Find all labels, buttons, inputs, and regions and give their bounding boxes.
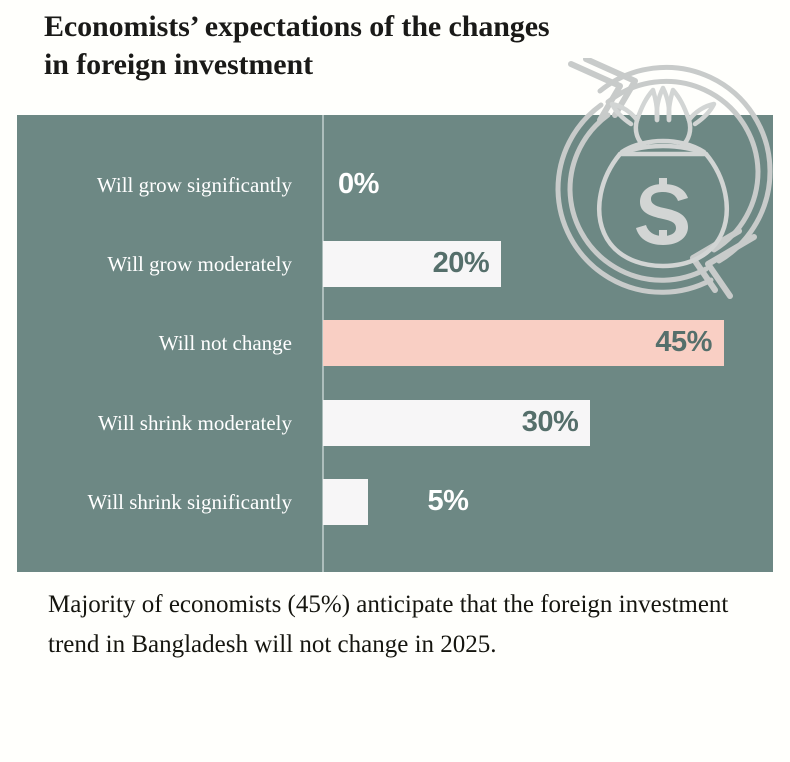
bar-value-label: 0% xyxy=(338,162,379,208)
bar-value-label: 20% xyxy=(323,241,501,287)
chart-caption: Majority of economists (45%) anticipate … xyxy=(48,585,738,665)
bar-category-label: Will grow significantly xyxy=(17,162,292,208)
chart-panel: Will grow significantly0%Will grow moder… xyxy=(17,115,773,572)
page-title: Economists’ expectations of the changes … xyxy=(44,8,734,84)
bar-row: Will not change45% xyxy=(17,320,773,366)
bar-category-label: Will shrink moderately xyxy=(17,400,292,446)
bar-row: Will shrink moderately30% xyxy=(17,400,773,446)
bar-category-label: Will not change xyxy=(17,320,292,366)
bar-value-label: 30% xyxy=(323,400,590,446)
infographic: Economists’ expectations of the changes … xyxy=(0,0,790,762)
bar-category-label: Will shrink significantly xyxy=(17,479,292,525)
bar-value-label: 45% xyxy=(323,320,724,366)
bar-row: Will grow significantly0% xyxy=(17,162,773,208)
bar-value-label: 5% xyxy=(428,479,469,525)
bar-category-label: Will grow moderately xyxy=(17,241,292,287)
bar-row: Will grow moderately20% xyxy=(17,241,773,287)
bar-row: Will shrink significantly5% xyxy=(17,479,773,525)
bar xyxy=(323,479,368,525)
